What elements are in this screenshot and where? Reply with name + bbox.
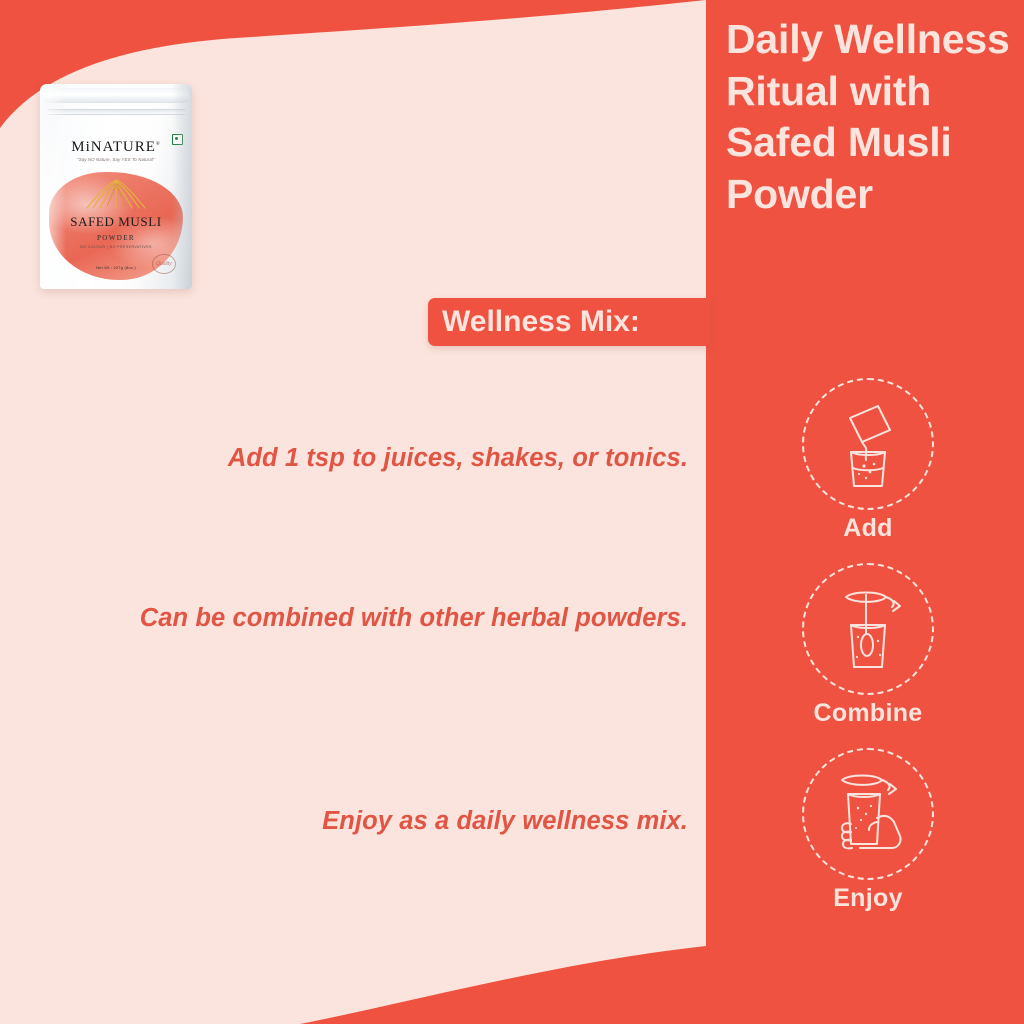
step-enjoy-label: Enjoy: [788, 884, 948, 913]
step-combine: Combine: [788, 563, 948, 748]
quality-seal-icon: Quality: [152, 254, 176, 274]
trademark-icon: ®: [156, 142, 161, 147]
product-form: POWDER: [40, 234, 192, 242]
wellness-mix-banner-label: Wellness Mix:: [442, 305, 640, 339]
pouch-zipper: [47, 109, 185, 115]
step-add-label: Add: [788, 514, 948, 543]
product-tagline: "Say NO Nature, Say YES To Natural": [40, 157, 192, 162]
product-brand: MiNATURE®: [40, 139, 192, 156]
product-descriptor: NO COLOUR | NO PRESERVATIVES: [40, 245, 192, 249]
product-name: SAFED MUSLI: [40, 214, 192, 230]
wellness-mix-banner: Wellness Mix:: [428, 298, 710, 346]
steps-list: Add: [788, 378, 948, 933]
instruction-line-2: Can be combined with other herbal powder…: [120, 600, 688, 637]
instruction-line-3: Enjoy as a daily wellness mix.: [200, 803, 688, 840]
sachet-pouring-into-glass-icon: [820, 396, 916, 492]
infographic-canvas: MiNATURE® "Say NO Nature, Say YES To Nat…: [0, 0, 1024, 1024]
spoon-stirring-glass-icon: [820, 581, 916, 677]
page-title: Daily Wellness Ritual with Safed Musli P…: [726, 14, 1012, 221]
instruction-line-1: Add 1 tsp to juices, shakes, or tonics.: [110, 440, 688, 477]
musli-roots-icon: [81, 176, 151, 210]
step-enjoy-circle: [802, 748, 934, 880]
step-enjoy: Enjoy: [788, 748, 948, 933]
product-brand-text: MiNATURE: [71, 139, 156, 155]
step-combine-label: Combine: [788, 699, 948, 728]
hand-holding-glass-icon: [820, 766, 916, 862]
pouch-top-seal: [43, 88, 189, 103]
step-add-circle: [802, 378, 934, 510]
step-add: Add: [788, 378, 948, 563]
product-package: MiNATURE® "Say NO Nature, Say YES To Nat…: [40, 84, 192, 289]
step-combine-circle: [802, 563, 934, 695]
